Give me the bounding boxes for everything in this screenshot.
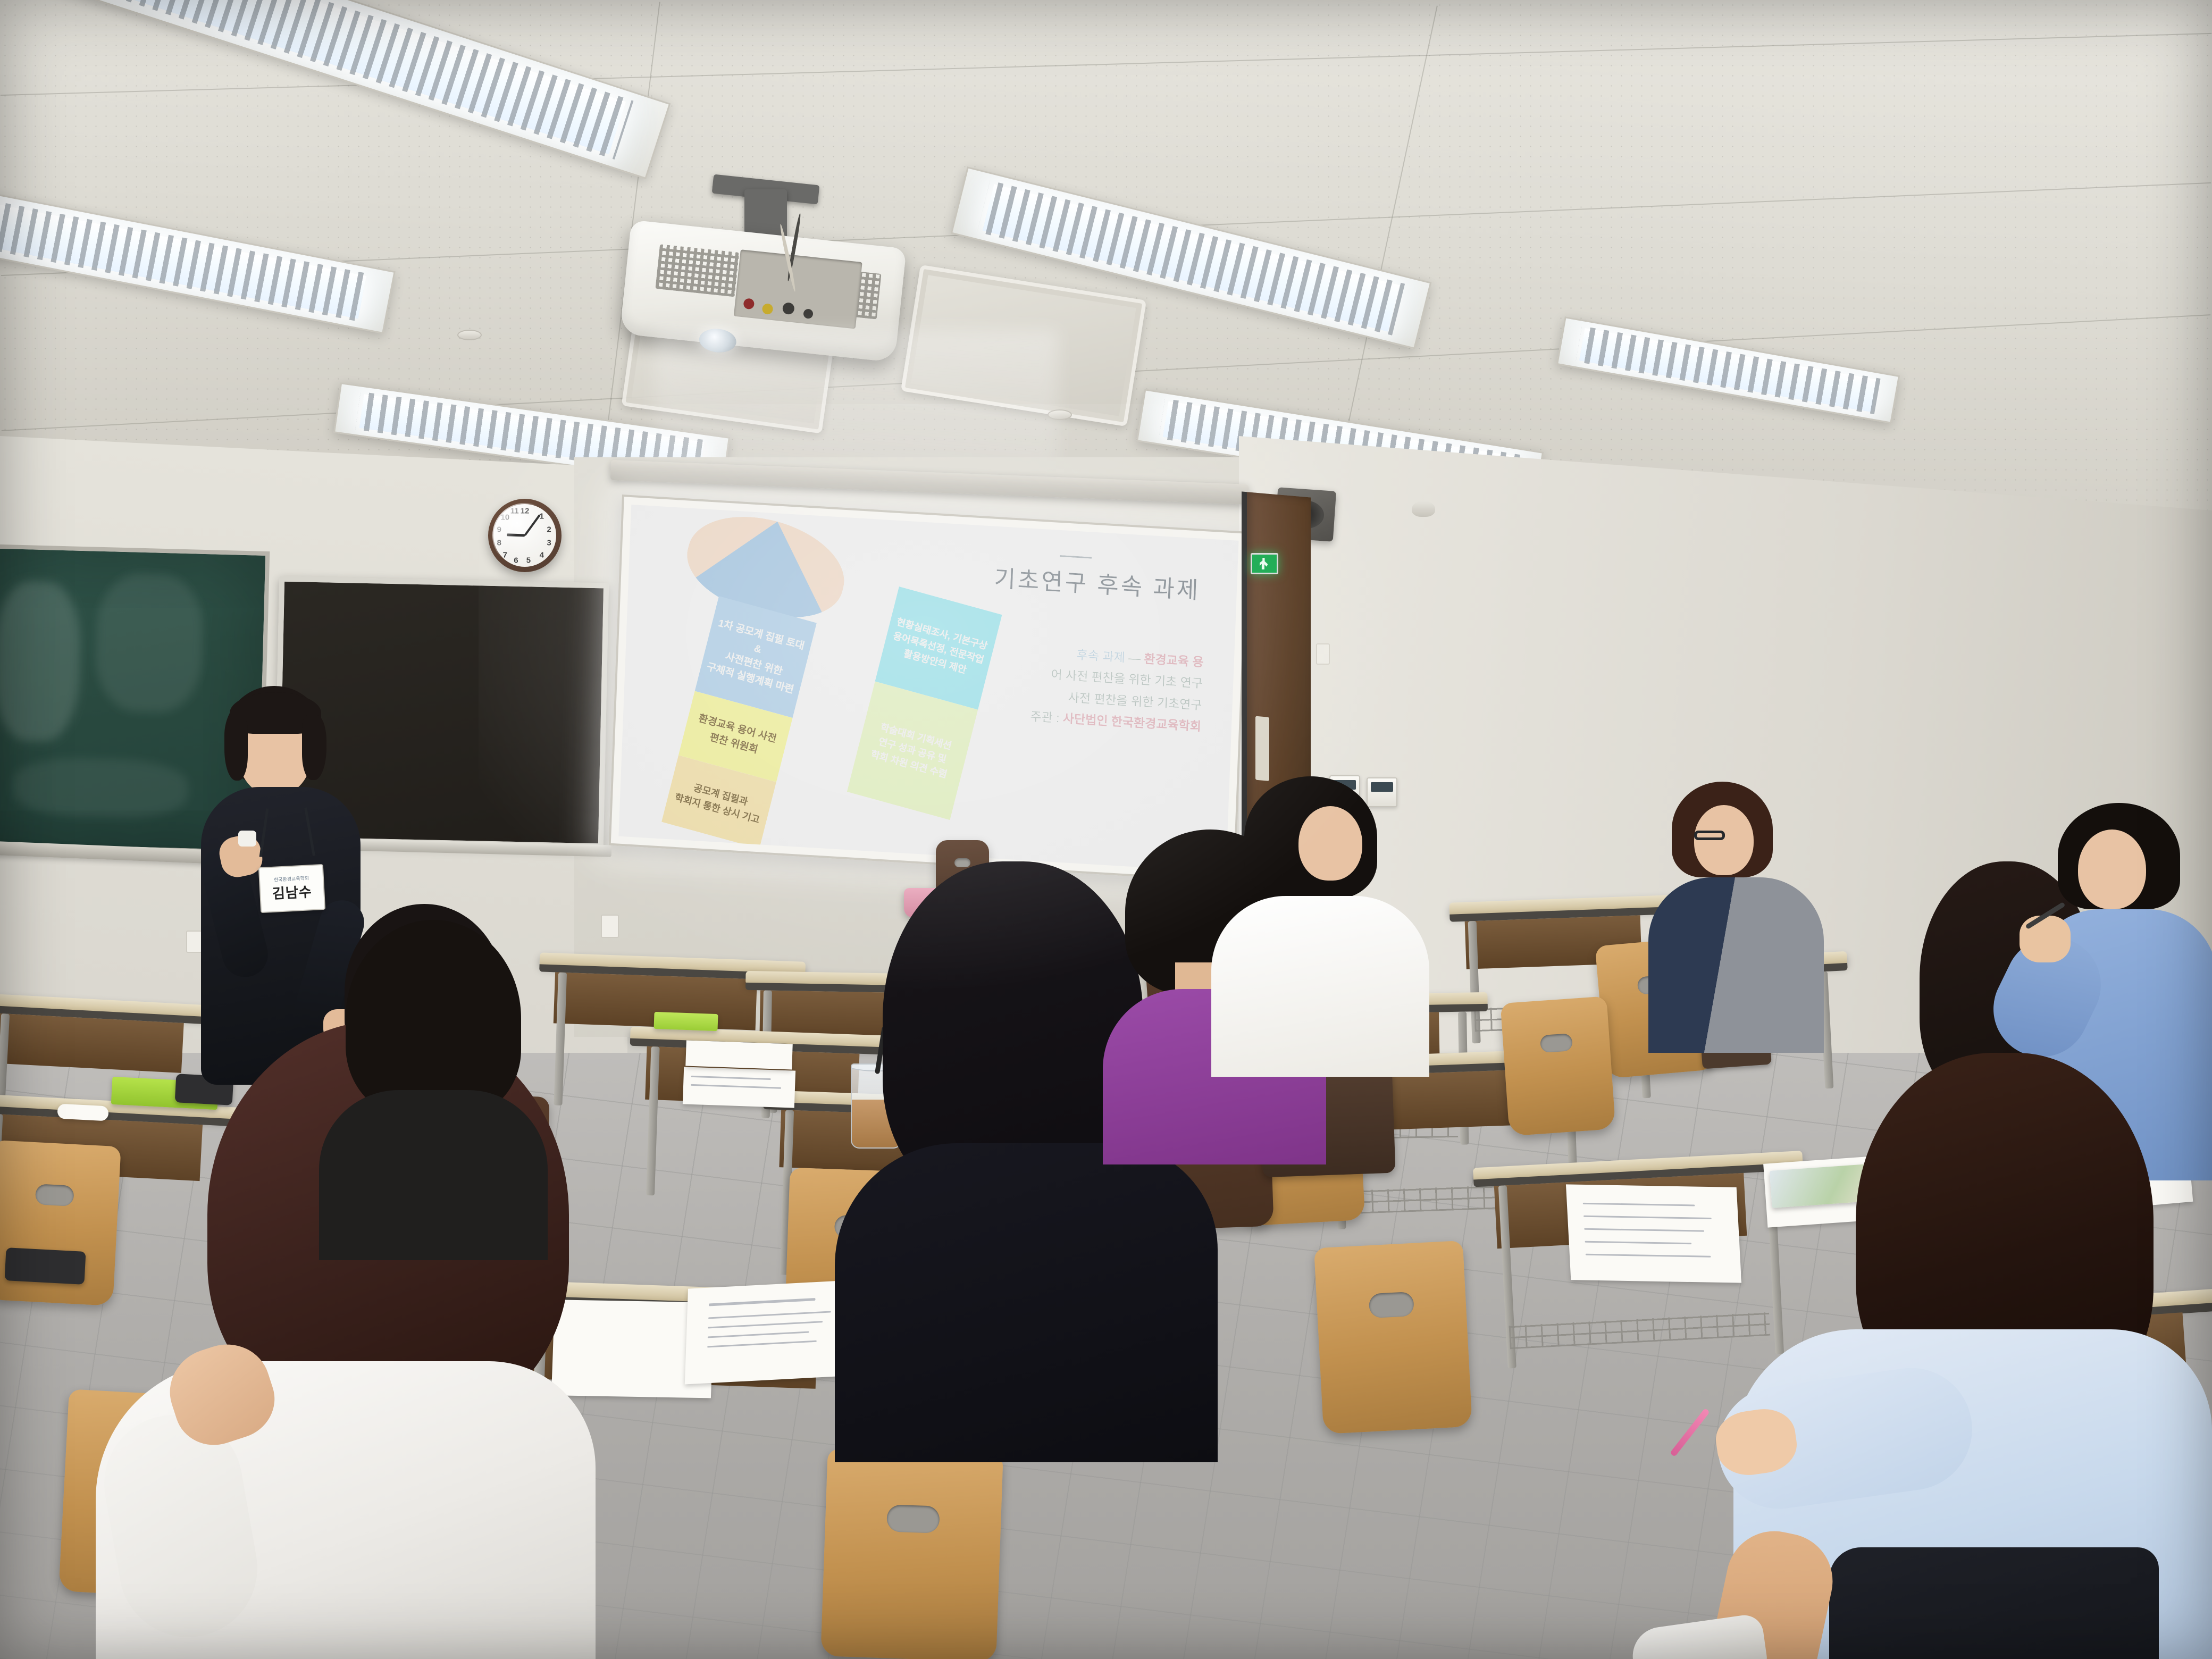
pen-pink [1670,1408,1710,1457]
head [1694,805,1754,875]
paper [683,1067,795,1108]
paper [685,1041,793,1070]
chair[interactable] [1314,1241,1472,1434]
notebook [653,1012,718,1031]
head [2078,829,2146,909]
power-outlet [1316,643,1330,665]
slide-body-text: 후속 과제 — 환경교육 용 어 사전 편찬을 위한 기초 연구 사전 편찬을 … [1030,641,1204,737]
attendee-a5 [1207,776,1430,1074]
head [1298,806,1362,881]
slide-title: 기초연구 후속 과제 [993,559,1201,606]
hand [2020,916,2071,962]
attendee-a6 [1648,782,1824,1058]
attendee-a9 [1654,1053,2212,1659]
smoke-detector-icon [457,330,482,340]
smoke-detector-icon [1048,409,1072,420]
torso [1211,896,1429,1077]
handout-booklet [551,1289,853,1411]
torso [1648,877,1824,1053]
wall-clock: 12 1 2 3 4 5 6 7 8 9 10 11 [488,499,562,572]
hair-side [224,718,248,781]
attendee-a2 [314,920,548,1250]
projection-screen: 기초연구 후속 과제 후속 과제 — 환경교육 용 어 사전 편찬을 위한 기초… [609,495,1249,883]
power-outlet [601,915,619,938]
name-badge: 한국환경교육학회 김남수 [258,864,325,913]
chair[interactable] [1501,996,1616,1136]
badge-name: 김남수 [272,881,313,903]
glasses-icon [1694,831,1725,840]
chair[interactable] [820,1448,1003,1659]
exit-sign-icon [1251,553,1278,574]
hair-side [302,715,326,780]
torso [319,1090,548,1260]
presentation-slide: 기초연구 후속 과제 후속 과제 — 환경교육 용 어 사전 편찬을 위한 기초… [618,505,1238,872]
hair [346,920,521,1117]
classroom-photo: 12 1 2 3 4 5 6 7 8 9 10 11 기초연구 후속 과제 후속… [0,0,2212,1659]
motion-sensor-icon [1412,501,1435,517]
clicker-remote [238,831,256,847]
skirt [1829,1547,2159,1659]
torso [835,1143,1218,1462]
